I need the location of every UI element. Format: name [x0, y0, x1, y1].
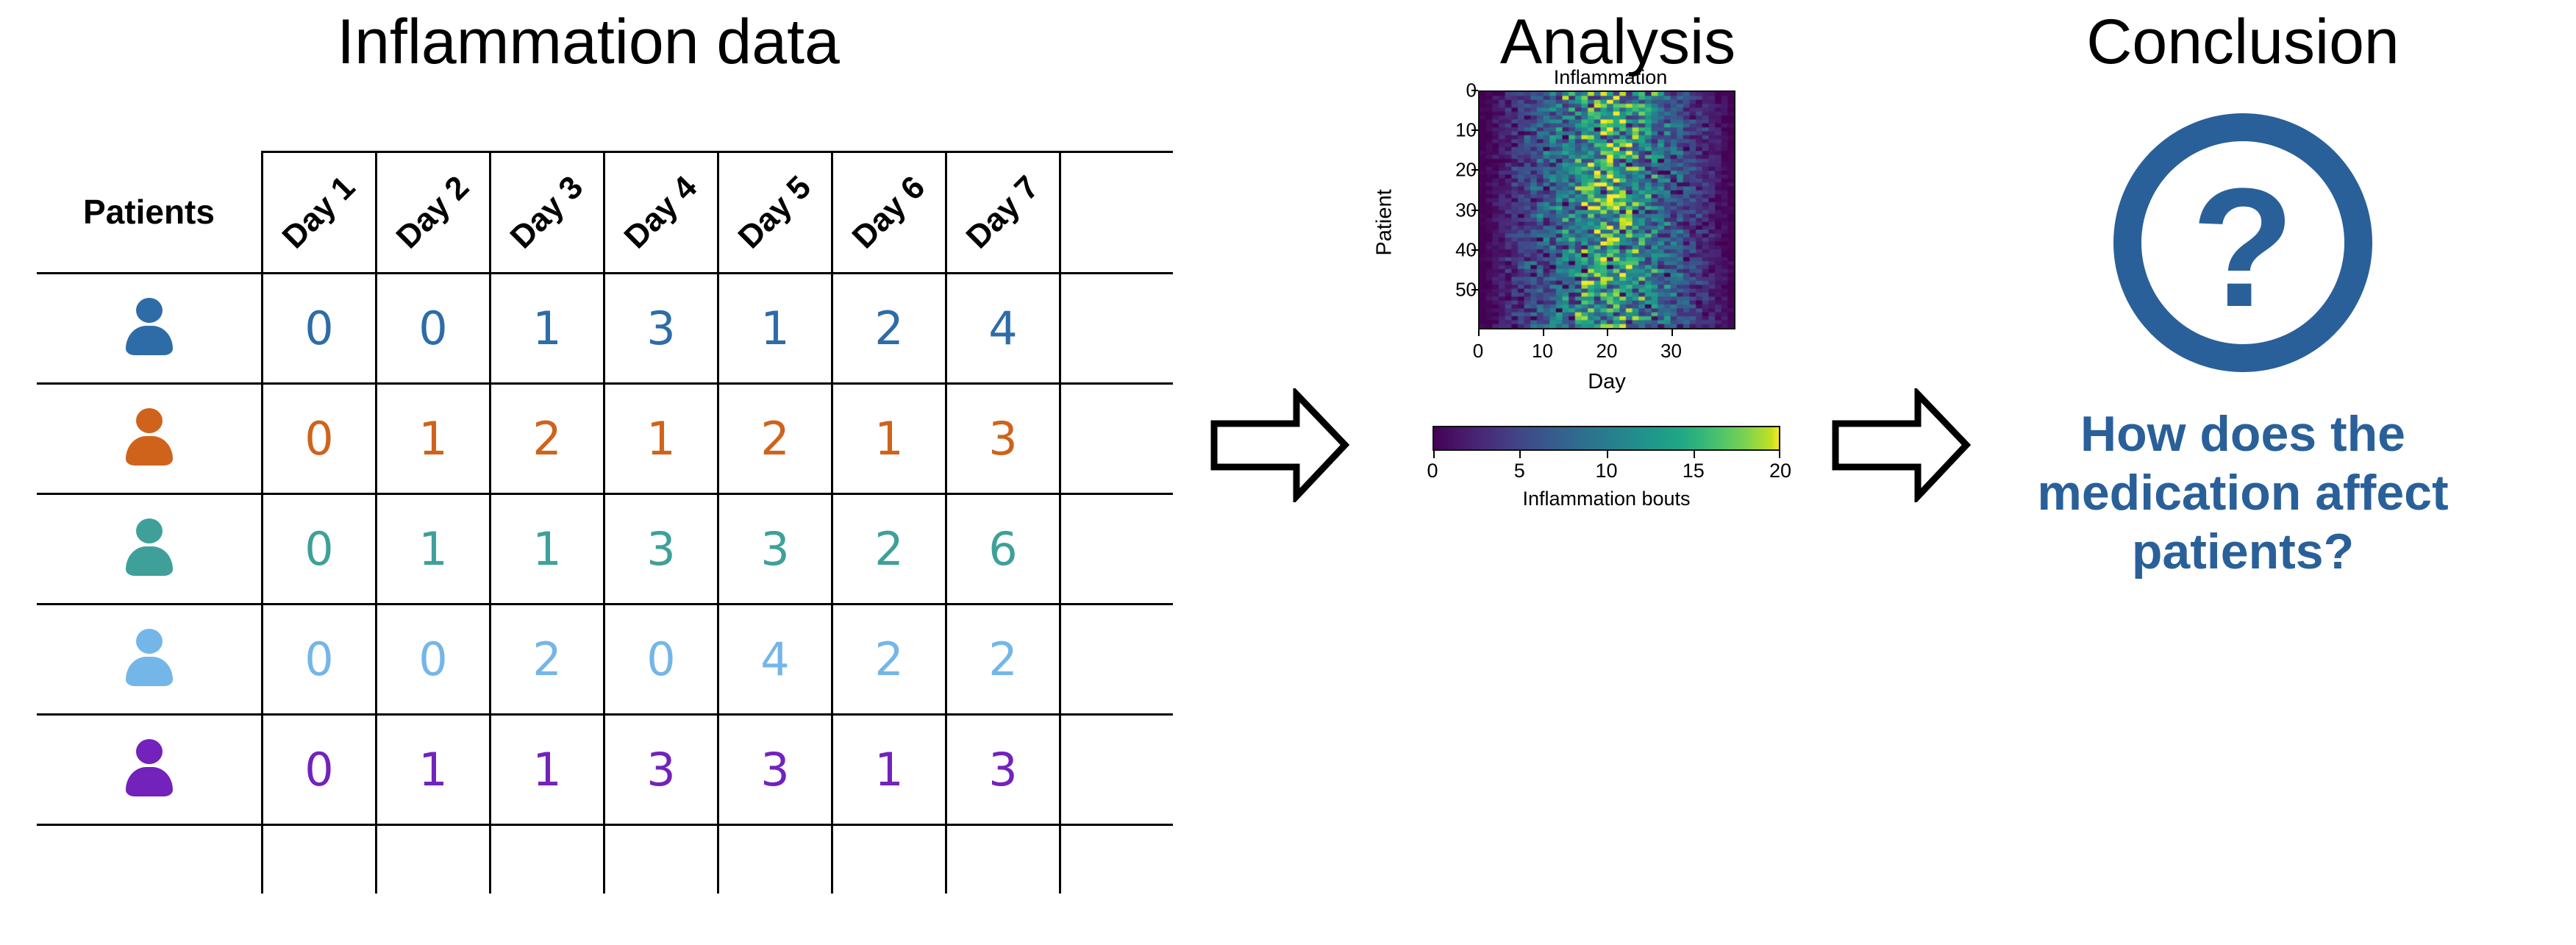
cell-value: 1 [418, 743, 447, 796]
cell-value: 0 [304, 412, 333, 466]
patient-icon-cell [37, 715, 263, 825]
column-header-day-6: Day 6 [832, 152, 946, 274]
column-header-label: Day 4 [618, 169, 704, 256]
colorbar-gradient [1433, 426, 1780, 451]
table-cell-overflow [1060, 605, 1174, 715]
table-trailing-cell [490, 825, 604, 894]
table-cell: 0 [263, 274, 377, 384]
column-header-day-3: Day 3 [490, 152, 604, 274]
table-trailing-cell [377, 825, 490, 894]
table-cell: 0 [263, 605, 377, 715]
page-title-conclusion: Conclusion [1919, 10, 2566, 74]
colorbar-tick-label: 15 [1668, 460, 1719, 482]
cell-value: 3 [646, 522, 675, 576]
cell-value: 1 [418, 522, 447, 576]
table-cell: 1 [490, 274, 604, 384]
cell-value: 2 [532, 632, 561, 686]
analysis-panel: Inflammation 01020304050 0102030 Day Pat… [1368, 66, 1853, 945]
table-cell: 1 [832, 715, 946, 825]
column-header-label: Day 7 [960, 169, 1046, 256]
heatmap-x-tick-label: 10 [1513, 340, 1572, 363]
cell-value: 0 [304, 302, 333, 355]
heatmap-x-tick-mark [1671, 329, 1673, 336]
colorbar-tick-label: 20 [1755, 460, 1806, 482]
patient-icon-cell [37, 384, 263, 494]
table-cell: 2 [718, 384, 832, 494]
person-icon [126, 739, 173, 796]
table-cell: 2 [832, 274, 946, 384]
heatmap-y-tick-label: 10 [1418, 119, 1477, 142]
table-cell: 4 [946, 274, 1060, 384]
column-header-day-7: Day 7 [946, 152, 1060, 274]
patients-header-cell: Patients [37, 152, 263, 274]
heatmap-x-tick-label: 20 [1577, 340, 1636, 363]
person-icon [126, 408, 173, 466]
cell-value: 1 [532, 522, 561, 576]
table-cell: 1 [490, 494, 604, 605]
cell-value: 4 [760, 632, 789, 686]
table-cell: 0 [263, 384, 377, 494]
table-trailing-cell [263, 825, 377, 894]
heatmap-x-tick-mark [1607, 329, 1608, 336]
person-icon [126, 629, 173, 686]
table-trailing-row [37, 825, 1173, 894]
column-header-day-5: Day 5 [718, 152, 832, 274]
table-cell: 1 [718, 274, 832, 384]
heatmap-y-tick-label: 50 [1418, 278, 1477, 301]
table-cell: 2 [832, 605, 946, 715]
table-trailing-cell [832, 825, 946, 894]
table-cell-overflow [1060, 715, 1174, 825]
cell-value: 2 [874, 632, 903, 686]
cell-value: 3 [760, 743, 789, 796]
heatmap-y-tick-mark [1471, 210, 1478, 211]
table-cell-overflow [1060, 494, 1174, 605]
table-cell: 1 [604, 384, 718, 494]
table-row: 0013124 [37, 274, 1173, 384]
cell-value: 3 [988, 743, 1017, 796]
column-header-day-1: Day 1 [263, 152, 377, 274]
table-cell: 1 [490, 715, 604, 825]
colorbar-tick-mark [1607, 451, 1608, 458]
table-cell-overflow [1060, 274, 1174, 384]
colorbar-tick-mark [1433, 451, 1435, 458]
heatmap-y-tick-mark [1471, 249, 1478, 251]
table-cell: 1 [377, 384, 490, 494]
column-header-label: Day 2 [390, 169, 477, 256]
cell-value: 0 [304, 632, 333, 686]
colorbar-wrapper: 05101520 Inflammation bouts [1433, 426, 1780, 499]
conclusion-question-text: How does the medication affect patients? [1934, 404, 2552, 582]
table-cell: 3 [604, 494, 718, 605]
table-cell: 2 [490, 384, 604, 494]
page-title-inflammation-data: Inflammation data [0, 10, 1177, 74]
column-header-day-2: Day 2 [377, 152, 490, 274]
column-header-label: Day 6 [846, 169, 932, 256]
table-cell: 3 [604, 274, 718, 384]
table-trailing-cell [37, 825, 263, 894]
column-header-day-4: Day 4 [604, 152, 718, 274]
patient-icon-cell [37, 274, 263, 384]
table-row: 0121213 [37, 384, 1173, 494]
cell-value: 1 [646, 412, 675, 466]
patient-icon-cell [37, 494, 263, 605]
cell-value: 2 [874, 302, 903, 355]
cell-value: 2 [988, 632, 1017, 686]
page-title-analysis: Analysis [1390, 10, 1846, 74]
table-cell: 0 [377, 605, 490, 715]
table-row: 0020422 [37, 605, 1173, 715]
person-icon [126, 518, 173, 576]
heatmap-y-tick-label: 0 [1418, 79, 1477, 102]
table-header-row: PatientsDay 1Day 2Day 3Day 4Day 5Day 6Da… [37, 152, 1173, 274]
cell-value: 2 [760, 412, 789, 466]
table-cell: 3 [718, 494, 832, 605]
cell-value: 6 [988, 522, 1017, 576]
table-cell: 0 [263, 715, 377, 825]
table-cell: 2 [946, 605, 1060, 715]
table-cell: 2 [832, 494, 946, 605]
heatmap-x-tick-label: 0 [1449, 340, 1508, 363]
heatmap-y-tick-label: 40 [1418, 238, 1477, 261]
colorbar-tick-label: 5 [1494, 460, 1545, 482]
heatmap-canvas [1480, 92, 1734, 328]
table-cell: 4 [718, 605, 832, 715]
cell-value: 0 [646, 632, 675, 686]
cell-value: 0 [304, 743, 333, 796]
column-header-label: Day 5 [732, 169, 818, 256]
patient-icon-cell [37, 605, 263, 715]
table-cell: 3 [946, 715, 1060, 825]
heatmap-y-tick-mark [1471, 169, 1478, 171]
colorbar-tick-mark [1779, 451, 1780, 458]
table-cell: 1 [377, 715, 490, 825]
heatmap-x-axis-label: Day [1478, 370, 1735, 394]
cell-value: 0 [304, 522, 333, 576]
table-cell: 2 [490, 605, 604, 715]
conclusion-panel: ? How does the medication affect patient… [1919, 88, 2566, 941]
column-header-overflow [1060, 152, 1174, 274]
conclusion-line-3: patients? [1934, 522, 2552, 581]
table-cell-overflow [1060, 384, 1174, 494]
cell-value: 1 [874, 743, 903, 796]
table-trailing-cell [1060, 825, 1174, 894]
cell-value: 1 [418, 412, 447, 466]
table-cell: 1 [832, 384, 946, 494]
table-row: 0113313 [37, 715, 1173, 825]
heatmap-y-tick-mark [1471, 289, 1478, 290]
heatmap-y-tick-mark [1471, 90, 1478, 91]
cell-value: 1 [760, 302, 789, 355]
cell-value: 1 [874, 412, 903, 466]
table-cell: 3 [718, 715, 832, 825]
cell-value: 1 [532, 302, 561, 355]
colorbar-tick-mark [1519, 451, 1521, 458]
cell-value: 2 [874, 522, 903, 576]
cell-value: 3 [760, 522, 789, 576]
table-cell: 0 [377, 274, 490, 384]
table-cell: 0 [263, 494, 377, 605]
table-cell: 6 [946, 494, 1060, 605]
heatmap-y-tick-label: 30 [1418, 199, 1477, 221]
table-cell: 3 [604, 715, 718, 825]
person-icon [126, 298, 173, 355]
heatmap-x-tick-label: 30 [1642, 340, 1701, 363]
table-trailing-cell [604, 825, 718, 894]
column-header-label: Day 1 [276, 169, 363, 256]
colorbar-tick-label: 10 [1581, 460, 1633, 482]
heatmap-y-tick-label: 20 [1418, 159, 1477, 182]
question-mark-glyph: ? [2191, 153, 2295, 342]
colorbar-label: Inflammation bouts [1433, 488, 1780, 510]
cell-value: 0 [418, 632, 447, 686]
cell-value: 2 [532, 412, 561, 466]
question-mark-circle-icon: ? [2103, 103, 2383, 382]
table-trailing-cell [718, 825, 832, 894]
conclusion-line-1: How does the [1934, 404, 2552, 463]
colorbar-tick-mark [1694, 451, 1695, 458]
inflammation-data-table: PatientsDay 1Day 2Day 3Day 4Day 5Day 6Da… [37, 151, 1173, 894]
cell-value: 4 [988, 302, 1017, 355]
table-trailing-cell [946, 825, 1060, 894]
heatmap-y-tick-mark [1471, 129, 1478, 131]
inflammation-data-table-wrapper: PatientsDay 1Day 2Day 3Day 4Day 5Day 6Da… [37, 151, 1184, 849]
heatmap-x-tick-mark [1478, 329, 1480, 336]
cell-value: 0 [418, 302, 447, 355]
patients-label: Patients [83, 193, 215, 231]
colorbar-tick-label: 0 [1407, 460, 1458, 482]
column-header-label: Day 3 [504, 169, 591, 256]
table-cell: 0 [604, 605, 718, 715]
cell-value: 1 [532, 743, 561, 796]
cell-value: 3 [988, 412, 1017, 466]
heatmap-x-tick-mark [1543, 329, 1544, 336]
cell-value: 3 [646, 302, 675, 355]
conclusion-line-2: medication affect [1934, 463, 2552, 522]
table-row: 0113326 [37, 494, 1173, 605]
right-arrow-icon-1 [1210, 388, 1349, 506]
heatmap-y-axis-label: Patient [1373, 189, 1397, 255]
heatmap-plot [1478, 90, 1735, 329]
table-cell: 1 [377, 494, 490, 605]
cell-value: 3 [646, 743, 675, 796]
table-cell: 3 [946, 384, 1060, 494]
